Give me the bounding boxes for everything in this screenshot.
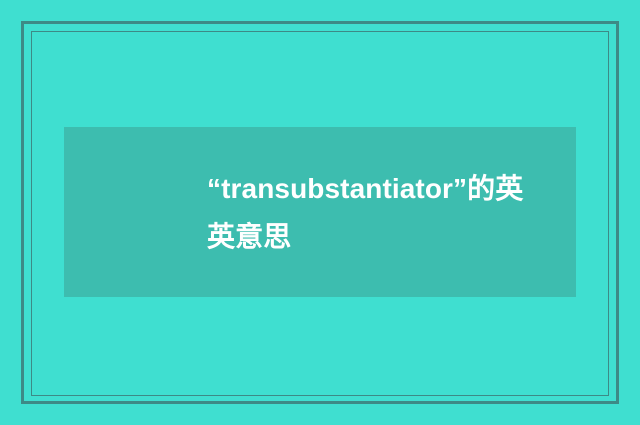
- headline-panel: “transubstantiator”的英英意思: [64, 127, 576, 297]
- page-title: “transubstantiator”的英英意思: [207, 165, 547, 261]
- title-card: “transubstantiator”的英英意思: [0, 0, 640, 425]
